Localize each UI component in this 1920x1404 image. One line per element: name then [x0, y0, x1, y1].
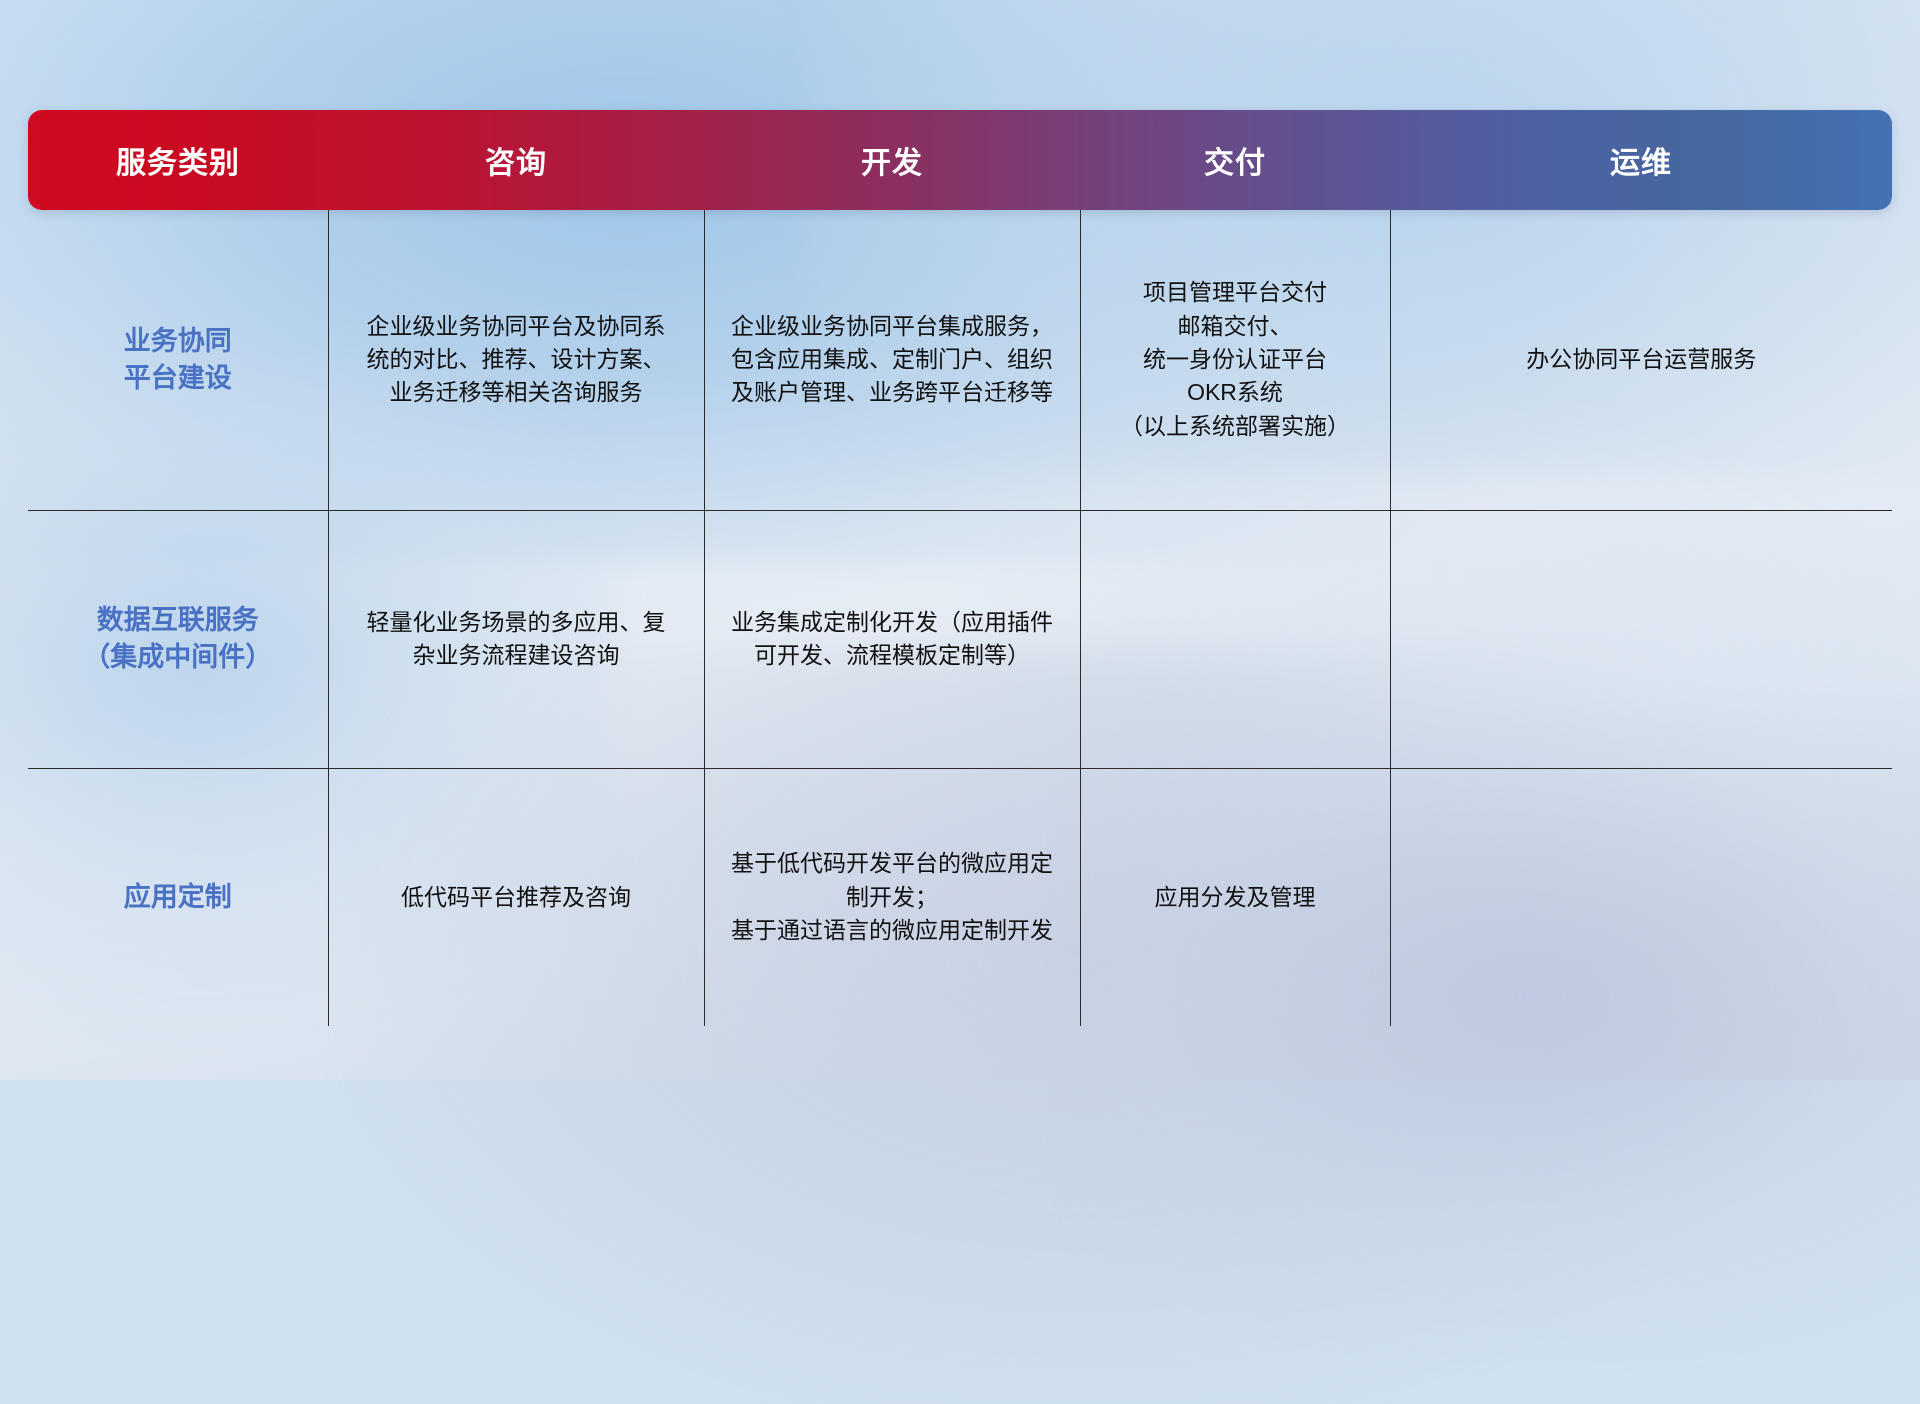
- table-cell-category: 数据互联服务（集成中间件）: [28, 510, 328, 768]
- column-header-category: 服务类别: [28, 110, 328, 210]
- cell-line: 办公协同平台运营服务: [1405, 343, 1879, 376]
- table-cell-delivery: [1080, 510, 1390, 768]
- table-cell-category: 业务协同平台建设: [28, 210, 328, 510]
- table-row: 数据互联服务（集成中间件）轻量化业务场景的多应用、复杂业务流程建设咨询业务集成定…: [28, 510, 1892, 768]
- cell-line: 轻量化业务场景的多应用、复: [343, 606, 690, 639]
- cell-line: 数据互联服务: [42, 602, 314, 639]
- table-row: 应用定制低代码平台推荐及咨询基于低代码开发平台的微应用定制开发；基于通过语言的微…: [28, 768, 1892, 1026]
- cell-line: 制开发；: [719, 881, 1066, 914]
- service-matrix: 服务类别 咨询 开发 交付 运维 业务协同平台建设企业级业务协同平台及协同系统的…: [28, 110, 1892, 1026]
- column-header-operations: 运维: [1390, 110, 1892, 210]
- table-cell-development: 业务集成定制化开发（应用插件可开发、流程模板定制等）: [704, 510, 1080, 768]
- column-header-delivery: 交付: [1080, 110, 1390, 210]
- table-cell-operations: [1390, 768, 1892, 1026]
- table-cell-consulting: 轻量化业务场景的多应用、复杂业务流程建设咨询: [328, 510, 704, 768]
- cell-line: 应用定制: [42, 879, 314, 916]
- cell-line: 基于低代码开发平台的微应用定: [719, 847, 1066, 880]
- cell-line: 企业级业务协同平台及协同系: [343, 310, 690, 343]
- column-header-consulting-label: 咨询: [485, 147, 547, 180]
- cell-line: 业务集成定制化开发（应用插件: [719, 606, 1066, 639]
- cell-line: 低代码平台推荐及咨询: [343, 881, 690, 914]
- table-cell-development: 基于低代码开发平台的微应用定制开发；基于通过语言的微应用定制开发: [704, 768, 1080, 1026]
- cell-line: OKR系统: [1095, 376, 1376, 409]
- table-cell-delivery: 项目管理平台交付邮箱交付、统一身份认证平台OKR系统（以上系统部署实施）: [1080, 210, 1390, 510]
- cell-line: 业务迁移等相关咨询服务: [343, 376, 690, 409]
- table-row: 业务协同平台建设企业级业务协同平台及协同系统的对比、推荐、设计方案、业务迁移等相…: [28, 210, 1892, 510]
- cell-line: （集成中间件）: [42, 639, 314, 676]
- table-cell-delivery: 应用分发及管理: [1080, 768, 1390, 1026]
- column-header-operations-label: 运维: [1610, 147, 1672, 180]
- cell-line: 杂业务流程建设咨询: [343, 639, 690, 672]
- cell-line: （以上系统部署实施）: [1095, 410, 1376, 443]
- cell-line: 应用分发及管理: [1095, 881, 1376, 914]
- column-header-development: 开发: [704, 110, 1080, 210]
- cell-line: 及账户管理、业务跨平台迁移等: [719, 376, 1066, 409]
- table-cell-development: 企业级业务协同平台集成服务，包含应用集成、定制门户、组织及账户管理、业务跨平台迁…: [704, 210, 1080, 510]
- table-cell-consulting: 企业级业务协同平台及协同系统的对比、推荐、设计方案、业务迁移等相关咨询服务: [328, 210, 704, 510]
- cell-line: 统的对比、推荐、设计方案、: [343, 343, 690, 376]
- table-cell-category: 应用定制: [28, 768, 328, 1026]
- cell-line: 基于通过语言的微应用定制开发: [719, 914, 1066, 947]
- cell-line: 邮箱交付、: [1095, 310, 1376, 343]
- column-header-development-label: 开发: [861, 147, 923, 180]
- table-header: 服务类别 咨询 开发 交付 运维: [28, 110, 1892, 210]
- column-header-category-label: 服务类别: [116, 147, 240, 180]
- table-cell-operations: 办公协同平台运营服务: [1390, 210, 1892, 510]
- table-cell-consulting: 低代码平台推荐及咨询: [328, 768, 704, 1026]
- column-header-delivery-label: 交付: [1204, 147, 1266, 180]
- cell-line: 企业级业务协同平台集成服务，: [719, 310, 1066, 343]
- cell-line: 可开发、流程模板定制等）: [719, 639, 1066, 672]
- column-header-consulting: 咨询: [328, 110, 704, 210]
- cell-line: 统一身份认证平台: [1095, 343, 1376, 376]
- cell-line: 业务协同: [42, 323, 314, 360]
- cell-line: 平台建设: [42, 360, 314, 397]
- table-cell-operations: [1390, 510, 1892, 768]
- table-body: 业务协同平台建设企业级业务协同平台及协同系统的对比、推荐、设计方案、业务迁移等相…: [28, 210, 1892, 1026]
- service-matrix-table: 服务类别 咨询 开发 交付 运维 业务协同平台建设企业级业务协同平台及协同系统的…: [28, 110, 1892, 1026]
- cell-line: 项目管理平台交付: [1095, 276, 1376, 309]
- cell-line: 包含应用集成、定制门户、组织: [719, 343, 1066, 376]
- table-header-row: 服务类别 咨询 开发 交付 运维: [28, 110, 1892, 210]
